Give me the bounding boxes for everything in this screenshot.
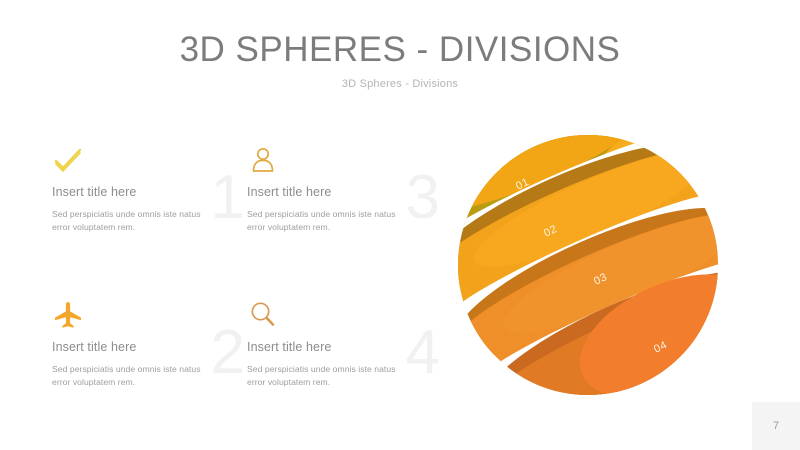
page-title: 3D SPHERES - DIVISIONS: [0, 30, 800, 70]
feature-block-1[interactable]: 1 Insert title here Sed perspiciatis und…: [52, 145, 237, 234]
page-number-badge: 7: [752, 402, 800, 450]
page-number: 7: [773, 420, 779, 432]
page-subtitle: 3D Spheres - Divisions: [0, 78, 800, 90]
feature-block-2[interactable]: 2 Insert title here Sed perspiciatis und…: [52, 300, 237, 389]
sphere-diagram[interactable]: 01 02: [438, 125, 768, 415]
slide-canvas: 3D SPHERES - DIVISIONS 3D Spheres - Divi…: [0, 0, 800, 450]
feature-title-4: Insert title here: [247, 340, 432, 354]
airplane-icon: [52, 300, 237, 332]
user-icon: [247, 145, 432, 177]
sphere-svg: 01 02: [438, 125, 768, 415]
feature-body-1: Sed perspiciatis unde omnis iste natus e…: [52, 208, 212, 234]
feature-title-3: Insert title here: [247, 185, 432, 199]
feature-block-3[interactable]: 3 Insert title here Sed perspiciatis und…: [247, 145, 432, 234]
check-icon: [52, 145, 237, 177]
feature-title-1: Insert title here: [52, 185, 237, 199]
feature-body-2: Sed perspiciatis unde omnis iste natus e…: [52, 363, 212, 389]
search-icon: [247, 300, 432, 332]
feature-block-4[interactable]: 4 Insert title here Sed perspiciatis und…: [247, 300, 432, 389]
feature-title-2: Insert title here: [52, 340, 237, 354]
feature-body-3: Sed perspiciatis unde omnis iste natus e…: [247, 208, 407, 234]
feature-body-4: Sed perspiciatis unde omnis iste natus e…: [247, 363, 407, 389]
